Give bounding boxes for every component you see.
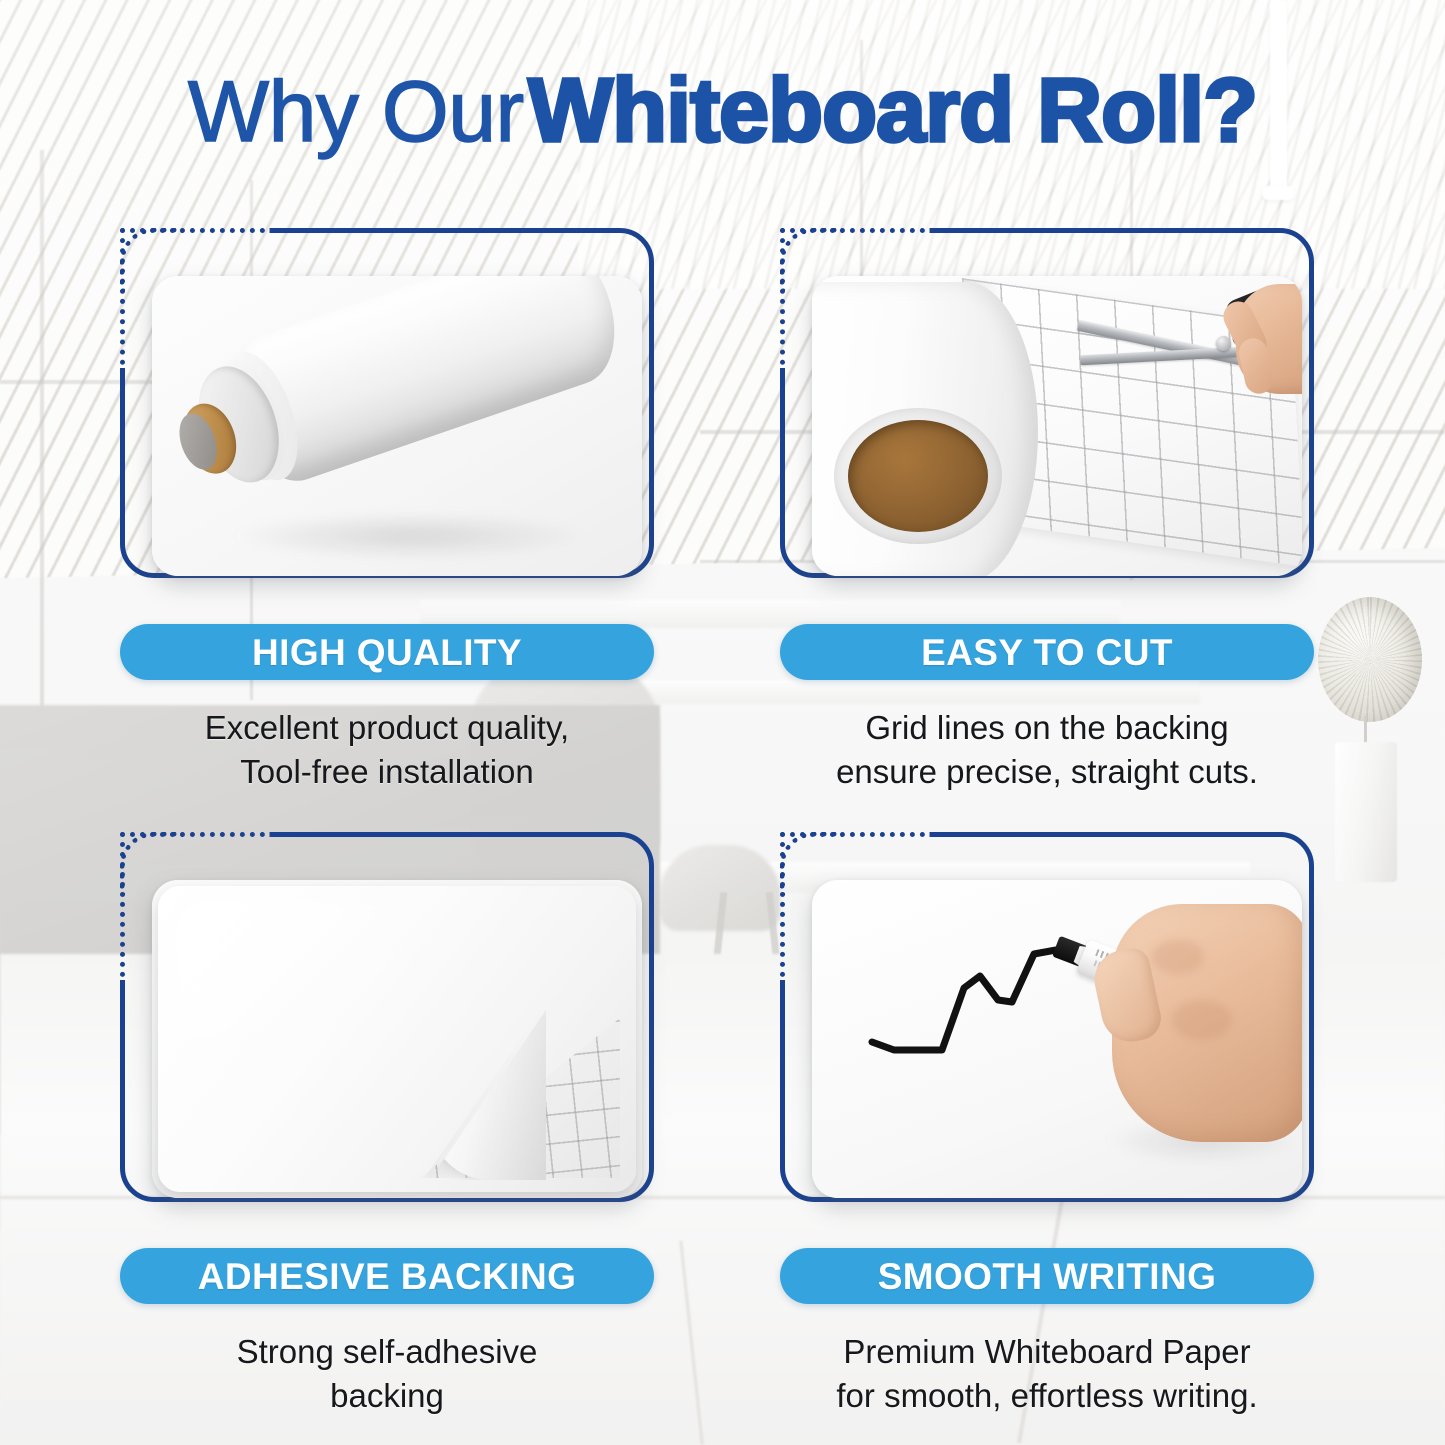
product-photo-whiteboard-roll <box>152 276 642 576</box>
frame-dotted-top <box>780 228 1175 233</box>
description-line-2: ensure precise, straight cuts. <box>766 750 1328 794</box>
knuckle-shading <box>1172 1000 1232 1040</box>
knuckle-shading <box>1152 940 1204 974</box>
page-title-light: Why Our <box>188 64 524 160</box>
badge-label: SMOOTH WRITING <box>878 1258 1217 1295</box>
frame-dotted-left <box>120 228 125 375</box>
feature-description-smooth-writing: Premium Whiteboard Paper for smooth, eff… <box>766 1330 1328 1417</box>
description-line-1: Excellent product quality, <box>106 706 668 750</box>
badge-adhesive-backing: ADHESIVE BACKING <box>120 1248 654 1304</box>
badge-label: HIGH QUALITY <box>252 634 522 671</box>
frame-dotted-left <box>780 832 785 987</box>
page-title-bold: Whiteboard Roll? <box>528 61 1257 161</box>
description-line-1: Strong self-adhesive <box>106 1330 668 1374</box>
feature-grid: HIGH QUALITY Excellent product quality, … <box>0 0 1445 1445</box>
feature-card-high-quality: HIGH QUALITY Excellent product quality, … <box>108 228 688 788</box>
badge-label: ADHESIVE BACKING <box>198 1258 577 1295</box>
description-line-2: Tool-free installation <box>106 750 668 794</box>
frame-dotted-top <box>780 832 1175 837</box>
badge-smooth-writing: SMOOTH WRITING <box>780 1248 1314 1304</box>
description-line-1: Grid lines on the backing <box>766 706 1328 750</box>
badge-label: EASY TO CUT <box>921 634 1173 671</box>
feature-description-high-quality: Excellent product quality, Tool-free ins… <box>106 706 668 793</box>
infographic-canvas: Why Our Whiteboard Roll? <box>0 0 1445 1445</box>
page-title: Why Our Whiteboard Roll? <box>0 66 1445 156</box>
frame-dotted-top <box>120 228 515 233</box>
feature-description-adhesive-backing: Strong self-adhesive backing <box>106 1330 668 1417</box>
frame-dotted-left <box>120 832 125 987</box>
roll-cardboard-core <box>848 420 988 532</box>
feature-card-easy-to-cut: EASY TO CUT Grid lines on the backing en… <box>768 228 1348 788</box>
description-line-2: for smooth, effortless writing. <box>766 1374 1328 1418</box>
description-line-2: backing <box>106 1374 668 1418</box>
product-photo-cutting-roll <box>812 276 1302 576</box>
sheet-gloss-highlight <box>172 896 472 1046</box>
roll-drop-shadow <box>230 512 590 560</box>
description-line-1: Premium Whiteboard Paper <box>766 1330 1328 1374</box>
badge-high-quality: HIGH QUALITY <box>120 624 654 680</box>
frame-dotted-top <box>120 832 515 837</box>
frame-dotted-left <box>780 228 785 375</box>
feature-card-smooth-writing: SMOOTH WRITING Premium Whiteboard Paper … <box>768 832 1348 1412</box>
product-photo-writing-demo <box>812 880 1302 1198</box>
feature-description-easy-to-cut: Grid lines on the backing ensure precise… <box>766 706 1328 793</box>
product-photo-adhesive-sheet <box>152 880 642 1198</box>
badge-easy-to-cut: EASY TO CUT <box>780 624 1314 680</box>
feature-card-adhesive-backing: ADHESIVE BACKING Strong self-adhesive ba… <box>108 832 688 1412</box>
scissors-pivot-screw <box>1216 336 1231 351</box>
